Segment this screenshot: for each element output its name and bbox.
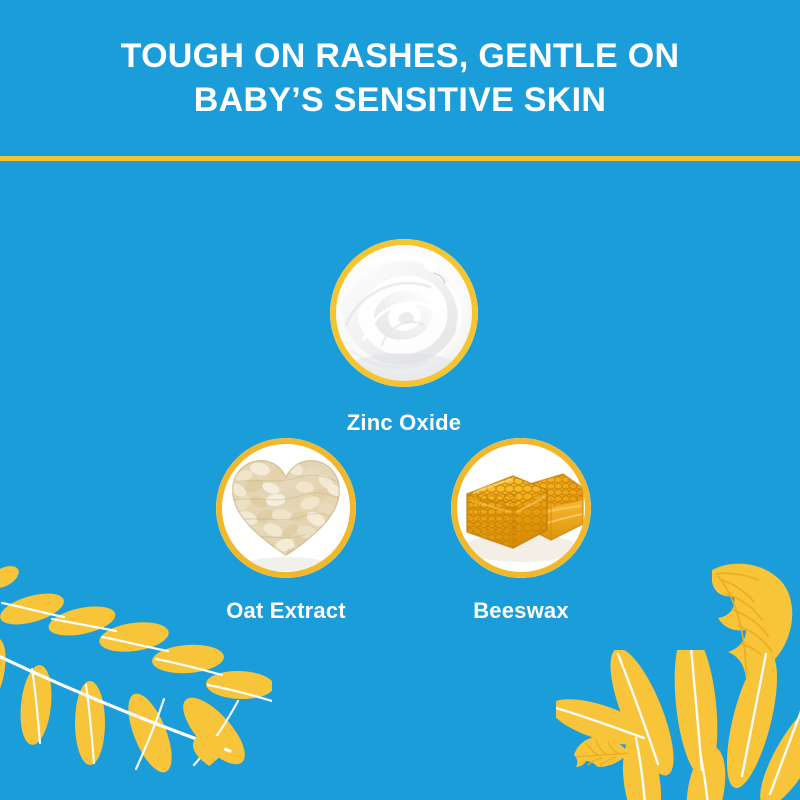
ingredient-label-beeswax: Beeswax: [451, 598, 591, 624]
monstera-leaf-icon: [570, 735, 630, 769]
headline-line-2: BABY’S SENSITIVE SKIN: [0, 78, 800, 122]
white-cream-swirl-image: [330, 239, 478, 387]
palm-leaf-icon: [556, 650, 800, 800]
page-title: TOUGH ON RASHES, GENTLE ON BABY’S SENSIT…: [0, 34, 800, 122]
header-divider: [0, 156, 800, 161]
beeswax-image-circle: [451, 438, 591, 578]
monstera-leaf-icon: [688, 560, 800, 682]
heart-icon: [192, 735, 226, 767]
ingredient-infographic-poster: TOUGH ON RASHES, GENTLE ON BABY’S SENSIT…: [0, 0, 800, 800]
headline-line-1: TOUGH ON RASHES, GENTLE ON: [0, 34, 800, 78]
oat-flakes-heart-image: [216, 438, 356, 578]
honeycomb-blocks-image: [451, 438, 591, 578]
ingredient-oat-extract: Oat Extract: [216, 438, 356, 624]
ingredient-zinc-oxide: Zinc Oxide: [330, 239, 478, 436]
ingredient-label-zinc-oxide: Zinc Oxide: [330, 410, 478, 436]
ingredient-beeswax: Beeswax: [451, 438, 591, 624]
oat-extract-image-circle: [216, 438, 356, 578]
ingredient-label-oat-extract: Oat Extract: [216, 598, 356, 624]
zinc-oxide-image-circle: [330, 239, 478, 387]
